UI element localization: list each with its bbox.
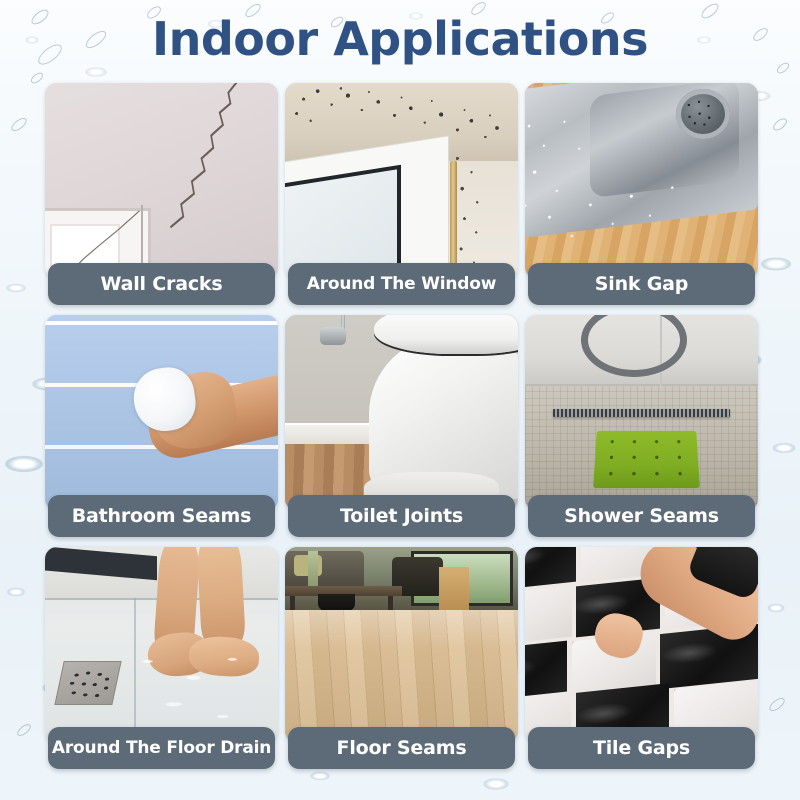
photo-floor-drain [45, 547, 278, 743]
application-cell-wall-cracks[interactable]: Wall Cracks [45, 83, 278, 313]
application-cell-floor-seams[interactable]: Floor Seams [285, 547, 518, 777]
application-cell-tile-gaps[interactable]: Tile Gaps [525, 547, 758, 777]
crack-line-icon [134, 83, 241, 232]
application-cell-bathroom-seams[interactable]: Bathroom Seams [45, 315, 278, 545]
cell-label-wall-cracks: Wall Cracks [48, 263, 275, 305]
cell-label-floor-seams: Floor Seams [288, 727, 515, 769]
cell-label-around-the-window: Around The Window [288, 263, 515, 305]
photo-hardwood-floor-seams [285, 547, 518, 743]
cell-label-toilet-joints: Toilet Joints [288, 495, 515, 537]
photo-shower-seams [525, 315, 758, 511]
application-cell-toilet-joints[interactable]: Toilet Joints [285, 315, 518, 545]
photo-tile-gaps [525, 547, 758, 743]
cell-label-bathroom-seams: Bathroom Seams [48, 495, 275, 537]
photo-cracked-wall [45, 83, 278, 279]
application-cell-around-the-window[interactable]: Around The Window [285, 83, 518, 313]
photo-toilet-joints [285, 315, 518, 511]
application-cell-sink-gap[interactable]: Sink Gap [525, 83, 758, 313]
application-cell-around-the-floor-drain[interactable]: Around The Floor Drain [45, 547, 278, 777]
application-cell-shower-seams[interactable]: Shower Seams [525, 315, 758, 545]
cell-label-tile-gaps: Tile Gaps [528, 727, 755, 769]
photo-window-mould [285, 83, 518, 279]
applications-grid: Wall Cracks Around The Window [45, 83, 763, 777]
cell-label-around-the-floor-drain: Around The Floor Drain [48, 727, 275, 769]
photo-sink-gap [525, 83, 758, 279]
cell-label-sink-gap: Sink Gap [528, 263, 755, 305]
photo-bathroom-tile-seams [45, 315, 278, 511]
cell-label-shower-seams: Shower Seams [528, 495, 755, 537]
page-title: Indoor Applications [0, 12, 800, 66]
infographic-page: Indoor Applications Wall Cracks [0, 0, 800, 800]
